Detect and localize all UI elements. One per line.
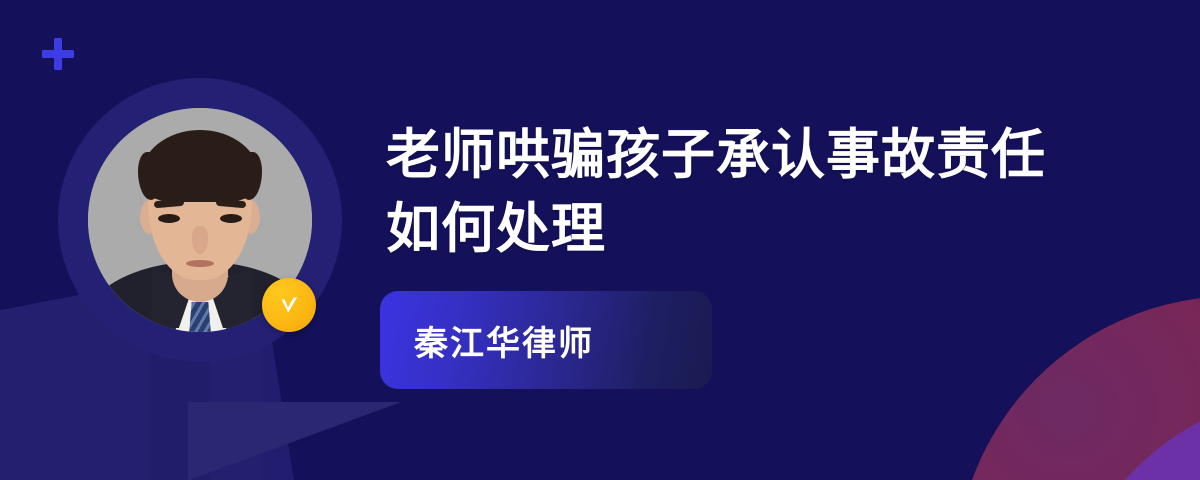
- decorative-triangle: [188, 402, 400, 480]
- avatar[interactable]: [58, 78, 342, 362]
- page-title: 老师哄骗孩子承认事故责任如何处理: [386, 118, 1076, 266]
- lawyer-article-banner: 老师哄骗孩子承认事故责任如何处理 秦江华律师: [0, 0, 1200, 480]
- lawyer-name-badge[interactable]: 秦江华律师: [380, 291, 712, 389]
- banner-content: 老师哄骗孩子承认事故责任如何处理: [386, 118, 1126, 266]
- verified-check-icon: [262, 278, 316, 332]
- plus-icon: [42, 38, 74, 70]
- lawyer-name-label: 秦江华律师: [380, 316, 594, 365]
